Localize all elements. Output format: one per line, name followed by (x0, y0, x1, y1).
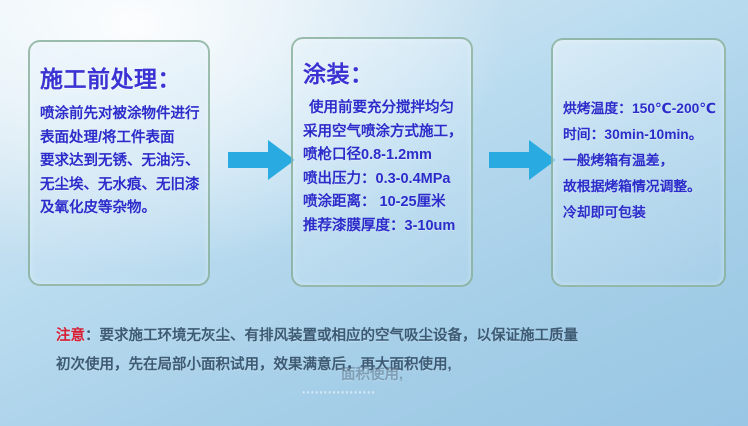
panel-coating-line-6: 推荐漆膜厚度：3-10um (303, 215, 461, 239)
panel-pretreatment-line-4: 无尘埃、无水痕、无旧漆 (40, 174, 198, 198)
panel-pretreatment-line-3: 要求达到无锈、无油污、 (40, 150, 198, 174)
footer-note-line-1: 注意：要求施工环境无灰尘、有排风装置或相应的空气吸尘设备，以保证施工质量 (56, 322, 716, 351)
panel-pretreatment-line-5: 及氧化皮等杂物。 (40, 197, 198, 221)
panel-baking: 烘烤温度：150℃-200℃ 时间：30min-10min。 一般烤箱有温差， … (551, 38, 726, 287)
panel-coating-content: 涂装： 使用前要充分搅拌均匀 采用空气喷涂方式施工， 喷枪口径0.8-1.2mm… (293, 59, 471, 238)
panel-coating-line-5: 喷涂距离： 10-25厘米 (303, 191, 461, 215)
panel-pretreatment: 施工前处理： 喷涂前先对被涂物件进行 表面处理/将工件表面 要求达到无锈、无油污… (28, 40, 210, 286)
panel-coating: 涂装： 使用前要充分搅拌均匀 采用空气喷涂方式施工， 喷枪口径0.8-1.2mm… (291, 37, 473, 287)
arrow-right-icon (228, 135, 296, 185)
panel-baking-line-4: 故根据烤箱情况调整。 (563, 174, 714, 200)
panel-coating-line-4: 喷出压力：0.3-0.4MPa (303, 168, 461, 192)
panel-coating-title: 涂装： (303, 59, 461, 89)
panel-pretreatment-content: 施工前处理： 喷涂前先对被涂物件进行 表面处理/将工件表面 要求达到无锈、无油污… (30, 64, 208, 221)
arrow-right-icon (489, 135, 557, 185)
process-infographic: 施工前处理： 喷涂前先对被涂物件进行 表面处理/将工件表面 要求达到无锈、无油污… (0, 0, 748, 426)
panel-pretreatment-line-1: 喷涂前先对被涂物件进行 (40, 103, 198, 127)
panel-coating-line-2: 采用空气喷涂方式施工， (303, 121, 461, 145)
panel-coating-line-3: 喷枪口径0.8-1.2mm (303, 144, 461, 168)
panel-baking-line-2: 时间：30min-10min。 (563, 122, 714, 148)
panel-pretreatment-title: 施工前处理： (40, 64, 198, 94)
panel-coating-line-1: 使用前要充分搅拌均匀 (303, 97, 461, 121)
panel-pretreatment-line-2: 表面处理/将工件表面 (40, 127, 198, 151)
warning-label: 注意 (56, 328, 85, 344)
panel-baking-line-3: 一般烤箱有温差， (563, 148, 714, 174)
panel-baking-line-5: 冷却即可包装 (563, 200, 714, 226)
panel-baking-line-1: 烘烤温度：150℃-200℃ (563, 96, 714, 122)
footer-note-line-1-text: ：要求施工环境无灰尘、有排风装置或相应的空气吸尘设备，以保证施工质量 (85, 328, 578, 344)
footer-note-ghost-dots: ................. (302, 375, 376, 404)
footer-note-line-2: 初次使用，先在局部小面积试用，效果满意后，再大面积使用, 面积使用, .....… (56, 351, 716, 380)
panel-baking-content: 烘烤温度：150℃-200℃ 时间：30min-10min。 一般烤箱有温差， … (553, 96, 724, 226)
footer-note: 注意：要求施工环境无灰尘、有排风装置或相应的空气吸尘设备，以保证施工质量 初次使… (56, 322, 716, 380)
